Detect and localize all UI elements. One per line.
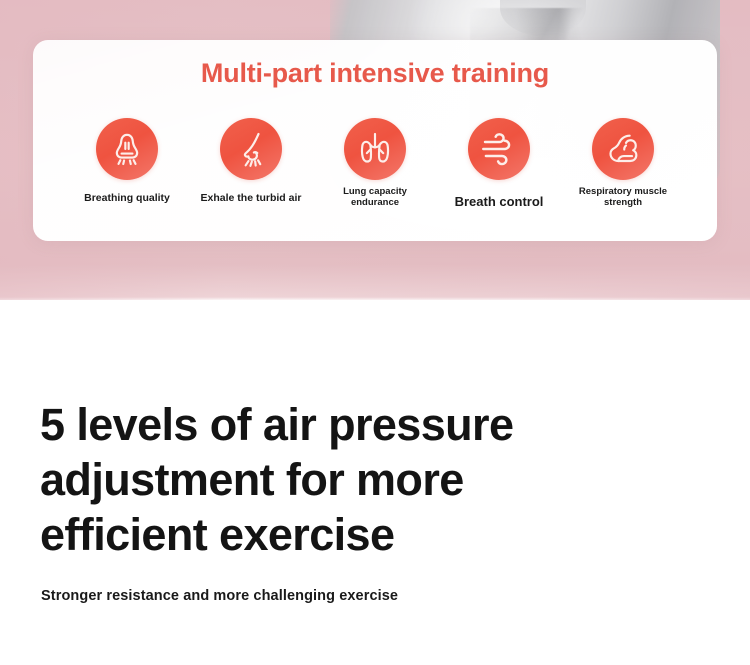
feature-card: Multi-part intensive training bbox=[33, 40, 717, 241]
flexed-bicep-icon bbox=[592, 118, 654, 180]
wind-airflow-icon bbox=[468, 118, 530, 180]
feature-item-label: Breath control bbox=[455, 194, 544, 209]
feature-item-respiratory-muscle-strength[interactable]: Respiratory muscle strength bbox=[567, 118, 679, 208]
lungs-icon bbox=[344, 118, 406, 180]
feature-item-breathing-quality[interactable]: Breathing quality bbox=[71, 118, 183, 204]
feature-item-exhale-turbid-air[interactable]: Exhale the turbid air bbox=[195, 118, 307, 204]
nose-exhale-icon bbox=[220, 118, 282, 180]
feature-card-title: Multi-part intensive training bbox=[33, 40, 717, 89]
feature-icon-row: Breathing quality Exhale the turbid air bbox=[33, 118, 717, 209]
nose-breathing-icon bbox=[96, 118, 158, 180]
page-headline: 5 levels of air pressure adjustment for … bbox=[40, 398, 640, 563]
feature-item-label: Respiratory muscle strength bbox=[579, 186, 667, 208]
page-subheadline: Stronger resistance and more challenging… bbox=[41, 588, 398, 604]
feature-item-lung-capacity[interactable]: Lung capacity endurance bbox=[319, 118, 431, 208]
feature-item-label: Exhale the turbid air bbox=[201, 192, 302, 204]
lower-section: 5 levels of air pressure adjustment for … bbox=[0, 300, 750, 665]
feature-item-label: Lung capacity endurance bbox=[343, 186, 407, 208]
hero-banner: Multi-part intensive training bbox=[0, 0, 750, 300]
feature-item-breath-control[interactable]: Breath control bbox=[443, 118, 555, 209]
feature-item-label: Breathing quality bbox=[84, 192, 170, 204]
